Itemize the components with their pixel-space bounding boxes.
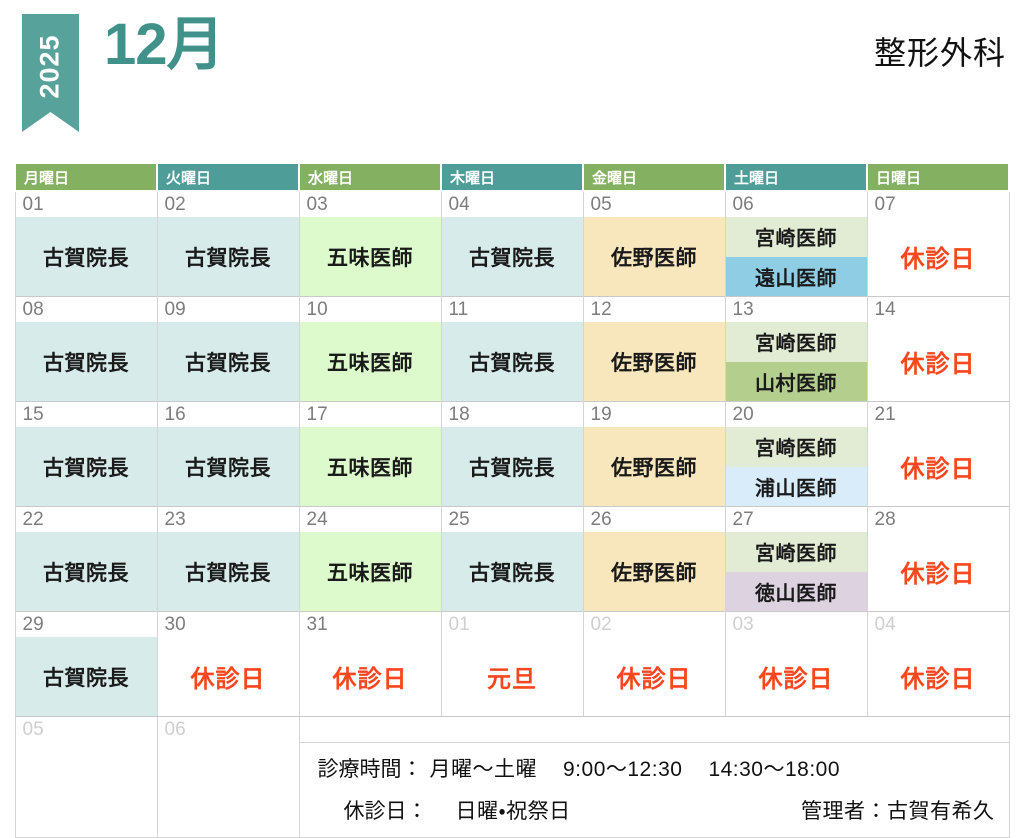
doctor-entry: 宮崎医師	[726, 217, 867, 257]
day-number-row: 01020304050607	[15, 191, 1009, 217]
weekday-header-7: 日曜日	[867, 163, 1009, 191]
day-number: 03	[299, 191, 441, 217]
closed-day-label: 休診日	[868, 322, 1009, 401]
calendar-grid: 月曜日火曜日水曜日木曜日金曜日土曜日日曜日 01020304050607古賀院長…	[14, 162, 1010, 838]
footer-row: 診療時間：月曜〜土曜9:00〜12:3014:30〜18:00休診日：日曜・祝祭…	[15, 743, 1009, 838]
doctor-entry: 五味医師	[300, 532, 441, 611]
weekday-header-2: 火曜日	[157, 163, 299, 191]
closed-day-label: 休診日	[300, 637, 441, 716]
day-content-row: 古賀院長古賀院長五味医師古賀院長佐野医師宮崎医師浦山医師休診日	[15, 427, 1009, 507]
doctor-entry: 佐野医師	[584, 532, 725, 611]
day-cell[interactable]: 佐野医師	[583, 322, 725, 402]
closed-day-label: 休診日	[868, 427, 1009, 506]
day-number: 19	[583, 402, 725, 428]
day-number: 12	[583, 297, 725, 323]
year-label: 2025	[35, 34, 66, 98]
day-number: 29	[15, 612, 157, 638]
weekday-header-4: 木曜日	[441, 163, 583, 191]
day-cell[interactable]: 休診日	[867, 532, 1009, 612]
footer-blank-cell	[15, 743, 157, 838]
closed-day-label: 休診日	[158, 637, 299, 716]
day-number: 09	[157, 297, 299, 323]
day-number: 05	[583, 191, 725, 217]
doctor-entry: 宮崎医師	[726, 427, 867, 467]
day-cell[interactable]: 休診日	[867, 637, 1009, 717]
doctor-entry: 佐野医師	[584, 217, 725, 296]
day-cell[interactable]: 宮崎医師山村医師	[725, 322, 867, 402]
day-cell[interactable]: 古賀院長	[157, 532, 299, 612]
closed-day-label: 休診日	[868, 532, 1009, 611]
day-content-row: 古賀院長古賀院長五味医師古賀院長佐野医師宮崎医師山村医師休診日	[15, 322, 1009, 402]
day-number: 04	[867, 612, 1009, 638]
day-cell[interactable]: 古賀院長	[441, 322, 583, 402]
day-cell[interactable]: 五味医師	[299, 217, 441, 297]
trailing-day-number-row: 0506	[15, 717, 1009, 743]
day-number: 18	[441, 402, 583, 428]
day-number: 05	[15, 717, 157, 743]
day-cell[interactable]: 元旦	[441, 637, 583, 717]
day-number: 06	[157, 717, 299, 743]
page-title: 12月	[104, 16, 224, 74]
day-cell[interactable]: 古賀院長	[15, 217, 157, 297]
day-number: 06	[725, 191, 867, 217]
day-content-row: 古賀院長古賀院長五味医師古賀院長佐野医師宮崎医師遠山医師休診日	[15, 217, 1009, 297]
trailing-spacer	[299, 717, 1009, 743]
weekday-header-1: 月曜日	[15, 163, 157, 191]
weekday-header-6: 土曜日	[725, 163, 867, 191]
year-ribbon: 2025	[22, 14, 79, 132]
department-title: 整形外科	[874, 28, 1006, 74]
day-cell[interactable]: 古賀院長	[441, 427, 583, 507]
doctor-entry: 佐野医師	[584, 322, 725, 401]
day-number: 01	[441, 612, 583, 638]
day-cell[interactable]: 宮崎医師遠山医師	[725, 217, 867, 297]
day-number: 01	[15, 191, 157, 217]
doctor-entry: 佐野医師	[584, 427, 725, 506]
day-cell[interactable]: 古賀院長	[15, 637, 157, 717]
day-number: 21	[867, 402, 1009, 428]
closed-day-label: 休診日	[584, 637, 725, 716]
day-number: 02	[157, 191, 299, 217]
day-cell[interactable]: 佐野医師	[583, 532, 725, 612]
day-number: 22	[15, 507, 157, 533]
day-number: 26	[583, 507, 725, 533]
consultation-hours-days: 月曜〜土曜	[430, 753, 538, 783]
doctor-entry: 古賀院長	[16, 532, 157, 611]
doctor-entry: 古賀院長	[158, 322, 299, 401]
clinic-info-panel: 診療時間：月曜〜土曜9:00〜12:3014:30〜18:00休診日：日曜・祝祭…	[299, 743, 1009, 838]
day-number: 07	[867, 191, 1009, 217]
day-cell[interactable]: 休診日	[867, 217, 1009, 297]
closed-days-row: 休診日：日曜・祝祭日管理者：古賀有希久	[318, 795, 995, 825]
doctor-entry: 徳山医師	[726, 572, 867, 612]
doctor-entry: 五味医師	[300, 217, 441, 296]
day-cell[interactable]: 古賀院長	[157, 427, 299, 507]
closed-day-label: 休診日	[868, 217, 1009, 296]
day-cell[interactable]: 五味医師	[299, 427, 441, 507]
doctor-entry: 遠山医師	[726, 257, 867, 297]
day-number-row: 22232425262728	[15, 507, 1009, 533]
closed-day-label: 元旦	[442, 637, 583, 716]
day-content-row: 古賀院長休診日休診日元旦休診日休診日休診日	[15, 637, 1009, 717]
consultation-hours-label: 診療時間：	[318, 753, 430, 783]
closed-day-label: 休診日	[868, 637, 1009, 716]
doctor-entry: 古賀院長	[16, 322, 157, 401]
consultation-hours-morning: 9:00〜12:30	[563, 753, 682, 783]
closed-days-value: 日曜・祝祭日	[456, 795, 571, 825]
day-cell[interactable]: 休診日	[725, 637, 867, 717]
day-cell[interactable]: 五味医師	[299, 532, 441, 612]
day-number: 14	[867, 297, 1009, 323]
day-cell[interactable]: 古賀院長	[157, 322, 299, 402]
day-number: 20	[725, 402, 867, 428]
day-number-row: 29303101020304	[15, 612, 1009, 638]
doctor-entry: 古賀院長	[16, 637, 157, 716]
day-cell[interactable]: 休診日	[867, 427, 1009, 507]
manager-label: 管理者：古賀有希久	[801, 795, 995, 825]
doctor-entry: 古賀院長	[158, 427, 299, 506]
day-cell[interactable]: 古賀院長	[15, 532, 157, 612]
consultation-hours-afternoon: 14:30〜18:00	[708, 753, 840, 783]
day-number: 31	[299, 612, 441, 638]
doctor-entry: 古賀院長	[442, 532, 583, 611]
doctor-entry: 宮崎医師	[726, 322, 867, 362]
doctor-entry: 古賀院長	[16, 427, 157, 506]
closed-day-label: 休診日	[726, 637, 867, 716]
day-cell[interactable]: 佐野医師	[583, 217, 725, 297]
doctor-entry: 古賀院長	[442, 322, 583, 401]
day-number: 15	[15, 402, 157, 428]
day-cell[interactable]: 古賀院長	[441, 217, 583, 297]
day-cell[interactable]: 佐野医師	[583, 427, 725, 507]
weekday-header-row: 月曜日火曜日水曜日木曜日金曜日土曜日日曜日	[15, 163, 1009, 191]
day-cell[interactable]: 休診日	[299, 637, 441, 717]
doctor-entry: 古賀院長	[158, 532, 299, 611]
day-cell[interactable]: 古賀院長	[15, 427, 157, 507]
day-number: 08	[15, 297, 157, 323]
day-cell[interactable]: 古賀院長	[15, 322, 157, 402]
doctor-entry: 五味医師	[300, 322, 441, 401]
page-header: 2025 12月 整形外科	[0, 0, 1024, 160]
day-cell[interactable]: 宮崎医師徳山医師	[725, 532, 867, 612]
day-number: 27	[725, 507, 867, 533]
day-content-row: 古賀院長古賀院長五味医師古賀院長佐野医師宮崎医師徳山医師休診日	[15, 532, 1009, 612]
day-number: 23	[157, 507, 299, 533]
day-number: 16	[157, 402, 299, 428]
day-number: 03	[725, 612, 867, 638]
weekday-header-3: 水曜日	[299, 163, 441, 191]
day-number: 02	[583, 612, 725, 638]
day-cell[interactable]: 古賀院長	[441, 532, 583, 612]
day-number: 17	[299, 402, 441, 428]
day-number-row: 15161718192021	[15, 402, 1009, 428]
day-cell[interactable]: 休診日	[867, 322, 1009, 402]
day-cell[interactable]: 五味医師	[299, 322, 441, 402]
day-cell[interactable]: 休診日	[157, 637, 299, 717]
doctor-entry: 山村医師	[726, 362, 867, 402]
doctor-entry: 五味医師	[300, 427, 441, 506]
day-number: 25	[441, 507, 583, 533]
day-number: 13	[725, 297, 867, 323]
doctor-entry: 古賀院長	[16, 217, 157, 296]
day-number: 10	[299, 297, 441, 323]
consultation-hours-row: 診療時間：月曜〜土曜9:00〜12:3014:30〜18:00	[318, 753, 995, 783]
day-number: 30	[157, 612, 299, 638]
day-number: 24	[299, 507, 441, 533]
day-number: 04	[441, 191, 583, 217]
footer-blank-cell	[157, 743, 299, 838]
doctor-entry: 古賀院長	[442, 427, 583, 506]
day-cell[interactable]: 古賀院長	[157, 217, 299, 297]
day-number: 28	[867, 507, 1009, 533]
doctor-entry: 古賀院長	[442, 217, 583, 296]
doctor-entry: 古賀院長	[158, 217, 299, 296]
doctor-entry: 浦山医師	[726, 467, 867, 507]
doctor-entry: 宮崎医師	[726, 532, 867, 572]
weekday-header-5: 金曜日	[583, 163, 725, 191]
day-cell[interactable]: 宮崎医師浦山医師	[725, 427, 867, 507]
day-number: 11	[441, 297, 583, 323]
day-cell[interactable]: 休診日	[583, 637, 725, 717]
closed-days-label: 休診日：	[318, 795, 456, 825]
day-number-row: 08091011121314	[15, 297, 1009, 323]
